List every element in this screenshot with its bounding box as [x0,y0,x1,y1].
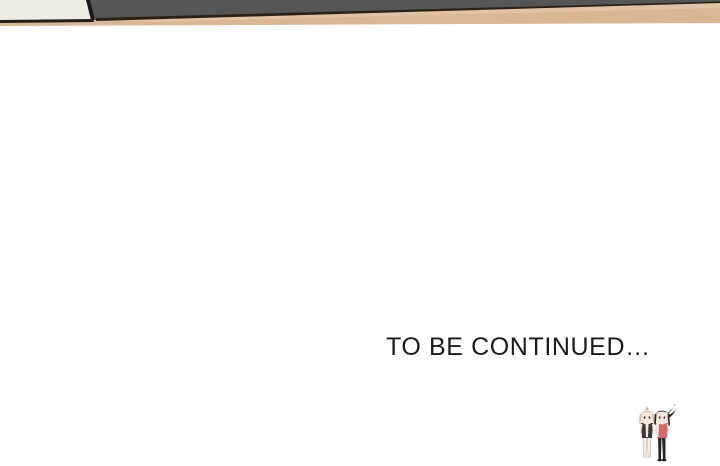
chibi-characters-signature [628,404,684,464]
chibi-right-leg-2 [662,437,666,459]
chibi-left-legs [643,437,647,456]
comic-panel: TO BE CONTINUED… [0,0,720,466]
chibi-right-ponytail [668,404,676,415]
chibi-left-hair-tuft [645,406,649,410]
chibi-left-shoe-2 [647,456,651,458]
chibi-left-eye-1 [644,416,646,419]
chibi-right-ponytail-2 [669,408,677,418]
to-be-continued-caption: TO BE CONTINUED… [386,332,651,362]
chibi-left-leg-2 [648,437,652,456]
chibi-signature-art [628,404,684,464]
chibi-right-eye-1 [659,416,661,419]
chibi-right [654,404,676,461]
chibi-right-shoe-2 [662,459,666,462]
top-scene-strip [0,0,720,30]
chibi-left [639,406,655,458]
chibi-left-outfit-accent [646,423,649,437]
chibi-right-head [655,410,669,425]
top-strip-art [0,0,720,30]
chibi-left-shoe-1 [643,456,647,458]
chibi-left-eye-2 [649,416,651,419]
chibi-right-shoe-1 [658,459,662,462]
chibi-right-eye-2 [664,416,666,419]
chibi-right-legs [658,437,662,459]
cream-wall-corner [0,0,93,22]
